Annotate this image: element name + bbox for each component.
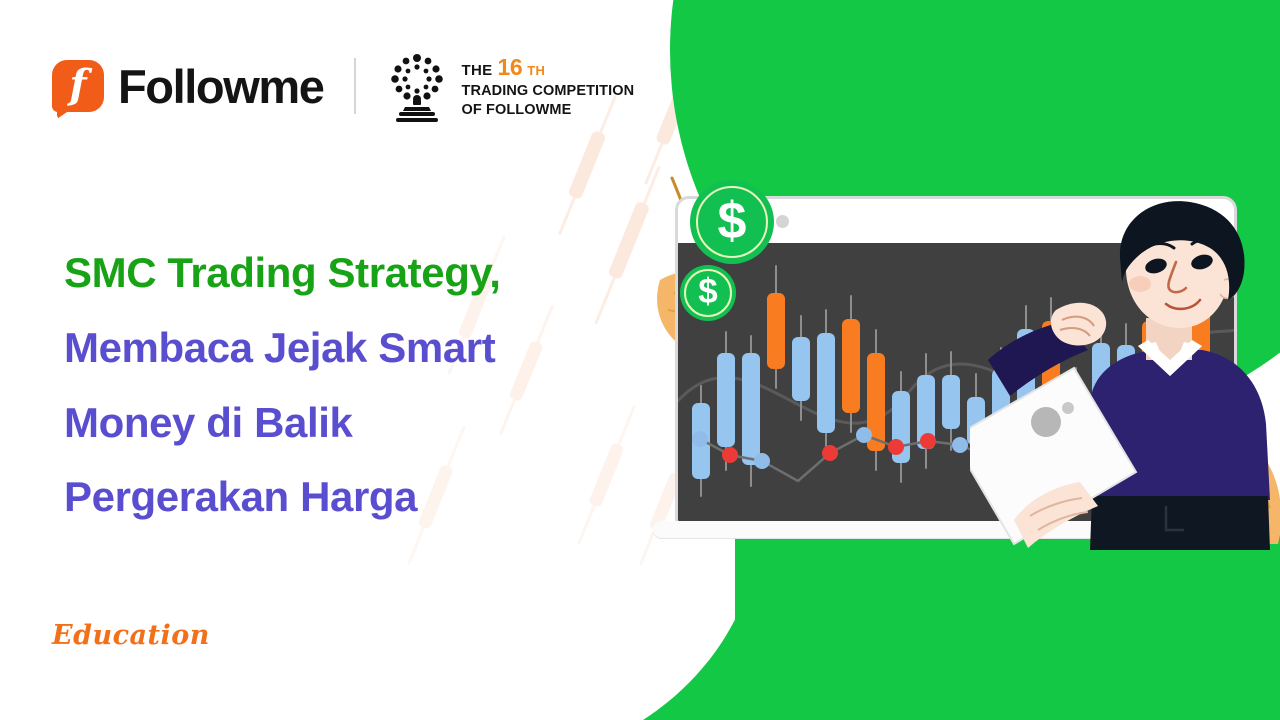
dollar-coin-small-icon: $ <box>680 265 736 321</box>
competition-line-3: OF FOLLOWME <box>462 101 635 120</box>
chart-marker-red <box>920 433 936 449</box>
competition-line-1: THE 16 TH <box>462 53 635 82</box>
chart-marker-blue <box>856 427 872 443</box>
candle-body <box>767 293 785 369</box>
dollar-coin-large-icon: $ <box>690 180 774 264</box>
candle-body <box>792 337 810 401</box>
competition-prefix: THE <box>462 61 493 80</box>
header-logo-lockup: f Followme <box>52 50 634 122</box>
competition-line-2: TRADING COMPETITION <box>462 82 635 101</box>
chart-marker-red <box>722 447 738 463</box>
browser-dot-icon[interactable] <box>776 215 789 228</box>
trophy-globe-emblem-icon <box>386 50 448 122</box>
followme-f-logo-icon: f <box>52 60 104 112</box>
competition-ordinal: TH <box>527 63 545 80</box>
candle-body <box>842 319 860 413</box>
competition-title: THE 16 TH TRADING COMPETITION OF FOLLOWM… <box>462 53 635 120</box>
logo-letter: f <box>52 60 104 112</box>
dollar-symbol: $ <box>698 274 717 312</box>
chart-marker-blue <box>692 431 708 447</box>
category-tag: Education <box>52 620 210 651</box>
chart-marker-red <box>888 439 904 455</box>
followme-brand-logo[interactable]: f Followme <box>52 60 324 112</box>
promo-banner: f Followme <box>0 0 1280 720</box>
header-divider <box>354 58 356 114</box>
headline-line-1: SMC Trading Strategy, <box>64 236 604 311</box>
hero-illustration: $ $ <box>640 0 1280 720</box>
competition-badge: THE 16 TH TRADING COMPETITION OF FOLLOWM… <box>386 50 635 122</box>
dollar-symbol: $ <box>718 195 747 250</box>
chart-marker-blue <box>754 453 770 469</box>
chart-marker-red <box>822 445 838 461</box>
headline-line-4: Pergerakan Harga <box>64 460 604 535</box>
competition-number: 16 <box>497 53 522 82</box>
person-presenter-icon <box>970 200 1280 550</box>
headline-line-2: Membaca Jejak Smart <box>64 311 604 386</box>
headline-block: SMC Trading Strategy, Membaca Jejak Smar… <box>64 236 604 535</box>
chart-marker-blue <box>952 437 968 453</box>
brand-wordmark: Followme <box>118 63 324 110</box>
headline-line-3: Money di Balik <box>64 386 604 461</box>
